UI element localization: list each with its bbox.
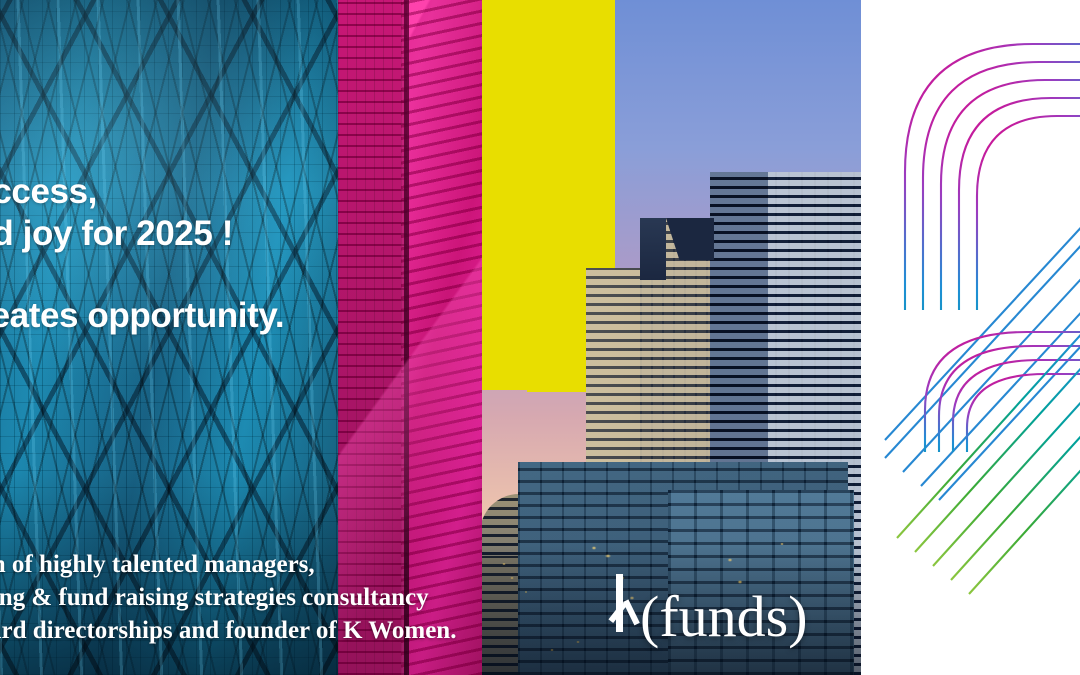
poster-canvas: u success, n and joy for 2025 ! n create… [0,0,1080,675]
headline-line-1: u success, [0,172,562,212]
body-copy-line-1: selection of highly talented managers, [0,548,456,581]
body-copy-line-2: marketing & fund raising strategies cons… [0,581,456,614]
headline: u success, n and joy for 2025 ! [0,172,562,254]
numeral-two-upper [885,44,1080,520]
kfunds-logo: (funds) [614,578,808,646]
logo-wordmark: (funds) [640,588,808,646]
numeral-artwork-svg [861,0,1080,675]
logo-k-mark [614,578,640,636]
headline-line-2: n and joy for 2025 ! [0,214,562,254]
tagline: n creates opportunity. [0,296,284,336]
numeral-artwork-2025 [861,0,1080,675]
logo-k-leg [623,599,640,625]
body-copy-line-3: ing, Board directorships and founder of … [0,614,456,647]
photo-collage: u success, n and joy for 2025 ! n create… [0,0,861,675]
sky-panel [482,0,861,675]
body-copy: selection of highly talented managers, m… [0,548,456,647]
skyline-tower-mid-notch [640,218,666,280]
